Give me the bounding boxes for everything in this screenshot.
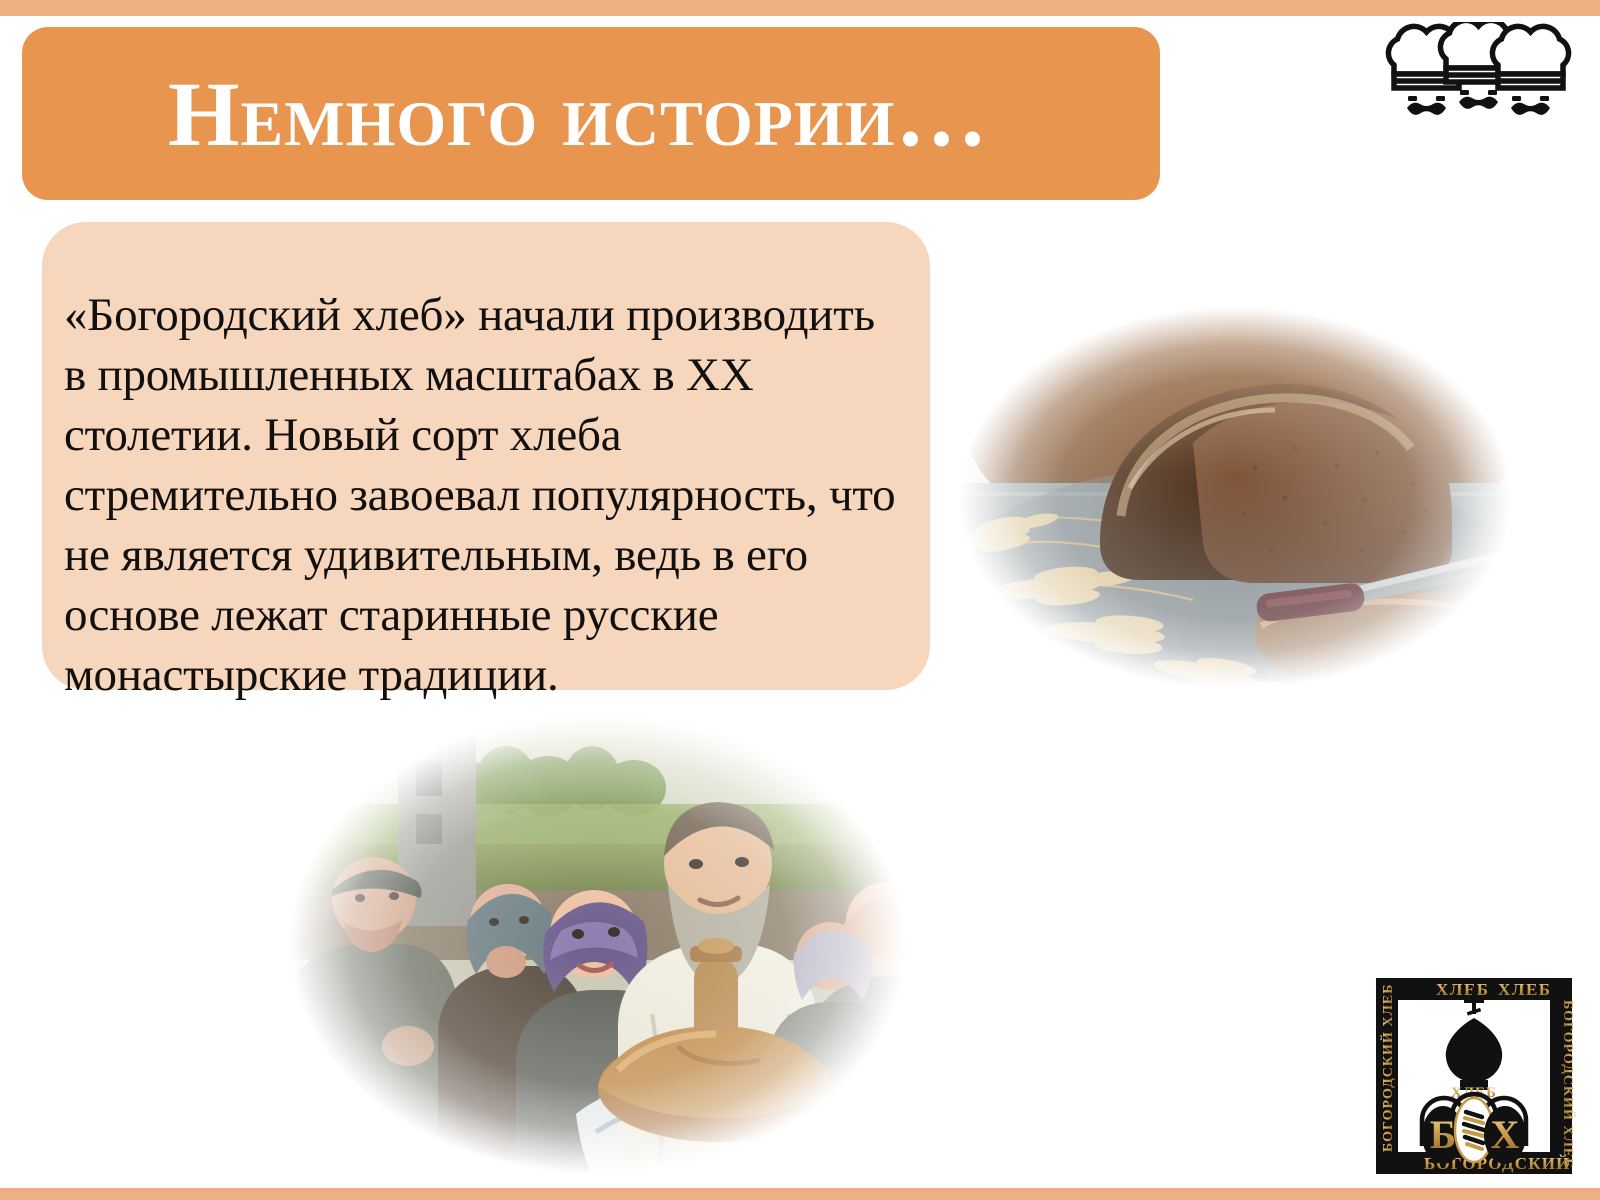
peasants-painting [248,694,948,1194]
history-text-card: «Богородский хлеб» начали производить в … [42,222,930,690]
chef-hats-icon [1374,22,1576,120]
slide-canvas: Немного истории… [0,0,1600,1200]
logo-top-right-word: ХЛЕБ [1498,980,1552,999]
logo-left-side-word: БОГОРОДСКИЙ ХЛЕБ [1379,984,1396,1152]
logo-monogram-left: Б [1430,1112,1456,1157]
logo-top-left-word: ХЛЕБ [1436,980,1490,999]
page-title: Немного истории… [168,62,1068,166]
bottom-accent-strip [0,1188,1600,1200]
top-accent-strip [0,0,1600,16]
bread-photo [925,288,1545,708]
logo-right-side-word: БОГОРОДСКИЙ ХЛЕБ [1560,1000,1577,1168]
logo-monogram-right: Х [1491,1112,1520,1157]
bogorodsky-hleb-logo: ХЛЕБ ХЛЕБ БОГОРОДСКИЙ БОГОРОДСКИЙ ХЛЕБ Б… [1368,970,1580,1182]
history-paragraph: «Богородский хлеб» начали производить в … [64,285,904,705]
